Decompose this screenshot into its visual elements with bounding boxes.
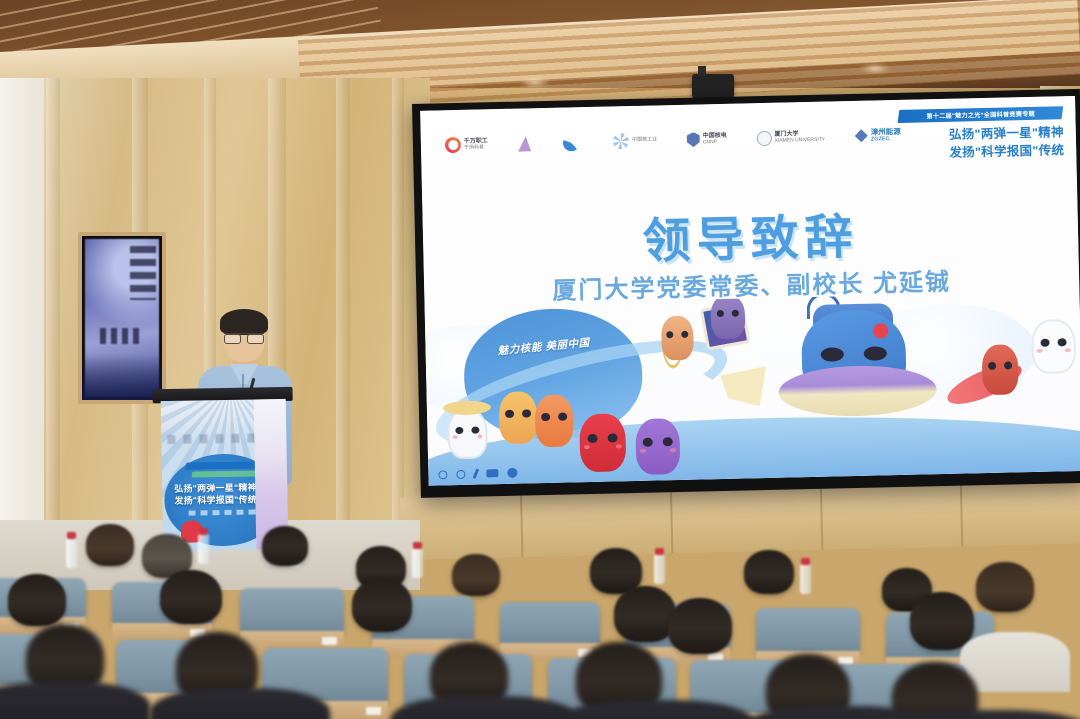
logo-item: 厦门大学 XIAMEN UNIVERSITY — [756, 129, 825, 146]
side-monitor-subtext — [100, 328, 144, 344]
audience-head — [262, 526, 308, 566]
podium-event-badge — [185, 461, 260, 469]
white-mascot — [447, 408, 488, 459]
xmu-seal-icon — [756, 130, 771, 145]
logo-label: 千万职工 千场科普 — [464, 138, 488, 151]
ceiling-light-icon — [520, 78, 550, 87]
audience-area — [0, 516, 1080, 719]
speaker-hair — [220, 309, 268, 335]
water-bottle — [66, 538, 77, 568]
water-bottle — [800, 564, 811, 594]
logo-label: 中国核工业 — [632, 138, 657, 144]
audience-head — [8, 574, 66, 626]
logo-item — [517, 136, 533, 151]
water-bottle — [412, 548, 423, 578]
audience-head — [614, 586, 676, 642]
video-icon[interactable] — [486, 469, 498, 477]
purple-wing-icon — [517, 136, 530, 151]
ceiling-light-icon — [860, 64, 890, 73]
slide-slogan: 弘扬"两弹一星"精神 发扬"科学报国"传统 — [896, 123, 1065, 163]
slide-illustration: 魅力核能 美丽中国 — [425, 291, 1080, 486]
logo-item: 中国核电 CNNP — [687, 131, 727, 147]
pen-icon[interactable] — [473, 468, 480, 478]
projector-mount — [692, 74, 734, 98]
diamond-icon — [855, 129, 868, 142]
audience-head — [744, 550, 794, 594]
side-monitor-crowd — [82, 354, 162, 400]
audience-head — [452, 554, 500, 596]
blue-ufo-mascot — [777, 308, 938, 424]
logo-item — [563, 134, 583, 151]
glasses-icon — [224, 333, 264, 341]
slide-toolbar[interactable] — [438, 468, 517, 480]
water-bottle — [654, 554, 665, 584]
audience-head — [160, 570, 222, 624]
audience-head — [86, 524, 134, 566]
conference-hall-photo: 千万职工 千场科普 中国核工业 — [0, 0, 1080, 719]
logo-label: 厦门大学 XIAMEN UNIVERSITY — [774, 130, 825, 144]
side-monitor-text-block — [130, 246, 156, 300]
orange-mascot — [535, 394, 574, 447]
logo-label: 中国核电 CNNP — [703, 133, 727, 146]
kite-shape — [720, 366, 767, 407]
slogan-line-2: 发扬"科学报国"传统 — [896, 141, 1064, 163]
yellow-mascot — [499, 391, 538, 444]
audience-shoulders — [150, 688, 330, 719]
projection-screen-bezel: 千万职工 千场科普 中国核工业 — [412, 89, 1080, 498]
circle-icon[interactable] — [456, 469, 465, 478]
podium-logo-strip — [167, 433, 267, 444]
audience-head — [976, 562, 1034, 612]
left-white-column — [0, 78, 44, 548]
logo-item: 中国核工业 — [613, 132, 657, 149]
event-badge-label: 第十二届"魅力之光"全国科普竞赛专题 — [926, 109, 1035, 120]
flower-icon — [613, 133, 629, 149]
event-badge: 第十二届"魅力之光"全国科普竞赛专题 — [898, 106, 1064, 123]
blue-wave-icon — [563, 134, 580, 151]
auditorium-seat[interactable] — [756, 608, 860, 656]
shield-icon — [687, 132, 700, 147]
red-mascot — [579, 413, 626, 472]
auditorium-seat[interactable] — [240, 588, 344, 636]
podium-event-subbadge — [192, 470, 259, 477]
audience-head — [352, 578, 412, 632]
sticker-icon[interactable] — [507, 468, 517, 478]
sponsor-logo-row: 千万职工 千场科普 中国核工业 — [445, 118, 902, 162]
logo-item: 漳州能源 ZGZEC — [855, 128, 901, 143]
audience-shoulders — [960, 632, 1070, 692]
red-surfer-mascot — [982, 344, 1019, 395]
projection-screen[interactable]: 千万职工 千场科普 中国核工业 — [420, 96, 1080, 486]
audience-head — [910, 592, 974, 650]
purple-mascot — [635, 418, 680, 475]
circle-icon[interactable] — [438, 470, 447, 479]
audience-head — [668, 598, 732, 654]
red-ribbon-icon — [445, 137, 461, 153]
tan-mascot — [661, 316, 694, 361]
violet-mascot — [710, 295, 745, 340]
water-bottle — [198, 534, 209, 564]
white-mascot — [1031, 319, 1076, 374]
auditorium-seat[interactable] — [500, 602, 600, 648]
logo-item: 千万职工 千场科普 — [445, 136, 488, 153]
side-display-monitor[interactable] — [78, 232, 166, 404]
presentation-slide: 千万职工 千场科普 中国核工业 — [420, 96, 1080, 486]
